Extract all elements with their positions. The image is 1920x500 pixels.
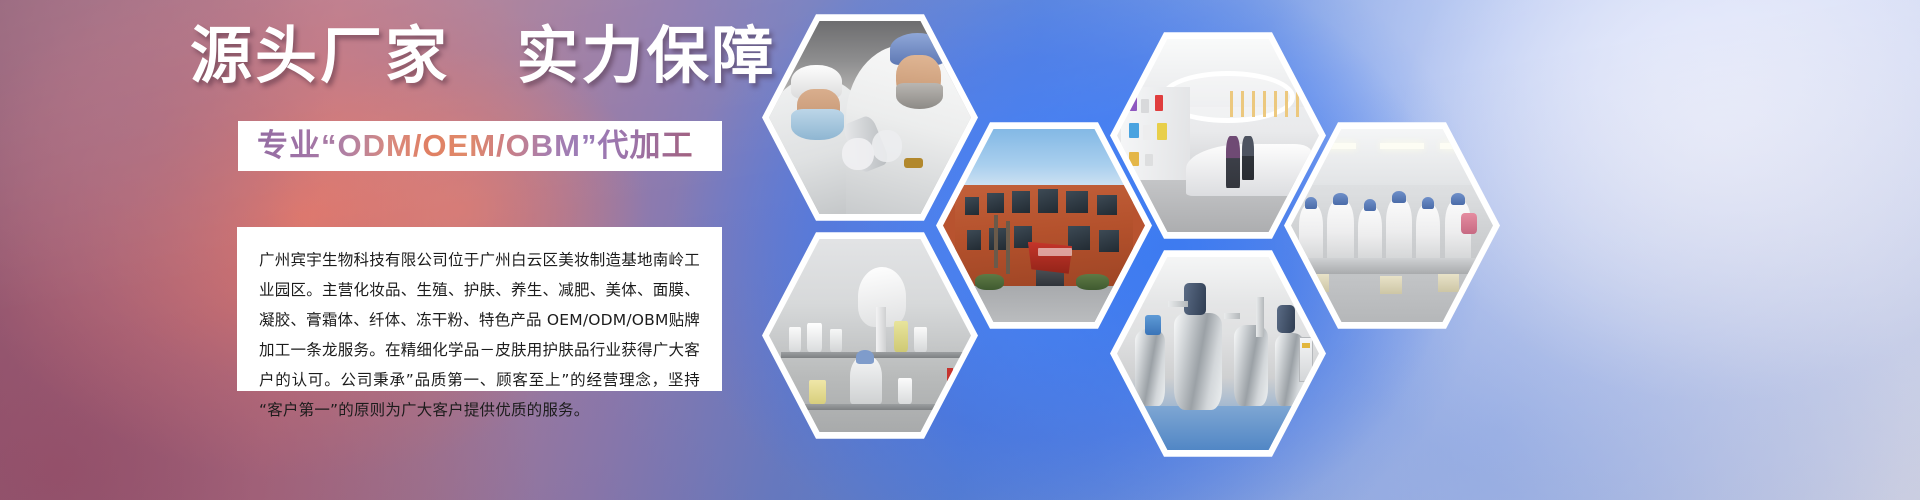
building-window	[965, 197, 979, 215]
display-product	[1155, 95, 1163, 111]
building-window	[987, 193, 1003, 213]
stainless-tank	[1174, 313, 1222, 409]
worker-cap	[1333, 193, 1347, 205]
agitator-motor	[1277, 305, 1295, 333]
mixing-tanks-photo	[1117, 253, 1319, 454]
hex-photo-laboratory-glassware-image	[769, 235, 971, 436]
display-product	[1141, 99, 1149, 113]
building-forecourt	[943, 286, 1145, 326]
shrub-planting	[975, 274, 1003, 290]
production-worker	[1299, 205, 1323, 265]
packaging-carton	[1380, 276, 1402, 294]
street-tree	[994, 215, 998, 267]
production-worker	[1327, 201, 1353, 265]
shrub-planting	[1076, 274, 1108, 290]
packaging-carton	[1438, 274, 1458, 292]
agitator-motor	[1184, 283, 1206, 315]
building-window	[1097, 195, 1117, 215]
showroom-visitor	[1226, 136, 1240, 188]
control-panel-indicator	[1302, 343, 1310, 347]
stainless-tank	[1234, 325, 1268, 405]
display-product	[1127, 95, 1137, 111]
pendant-lights	[1230, 91, 1299, 117]
lab-technicians-photo	[769, 17, 971, 218]
building-entrance-canopy	[1028, 242, 1072, 274]
worker-cap	[1305, 197, 1317, 209]
hex-photo-laboratory-glassware[interactable]	[762, 228, 978, 443]
production-worker	[1386, 199, 1412, 265]
worker-cap	[1422, 197, 1434, 209]
display-product	[1129, 152, 1139, 166]
building-window	[1012, 191, 1030, 213]
reagent-bottle	[809, 380, 825, 404]
factory-building-photo	[943, 125, 1145, 326]
ceiling-light	[1380, 143, 1424, 149]
reagent-bottle	[807, 323, 821, 351]
stainless-tank	[1135, 329, 1165, 405]
building-window	[1038, 189, 1058, 213]
process-pipe	[1256, 297, 1264, 337]
showroom-visitor	[1242, 136, 1254, 180]
lab-worker-cap	[856, 350, 874, 364]
process-pipe	[1168, 301, 1188, 307]
reagent-bottle	[914, 327, 926, 351]
worker-cap	[1364, 199, 1376, 211]
reagent-bottle	[830, 329, 842, 351]
display-product	[1157, 123, 1167, 139]
hex-photo-lab-technicians[interactable]	[762, 10, 978, 225]
building-window	[1068, 226, 1090, 250]
worker-cap	[1451, 193, 1465, 205]
bench-shelf-lower	[781, 404, 963, 410]
worker-cap	[1392, 191, 1406, 203]
building-signage	[1038, 248, 1072, 256]
hex-photo-mixing-tanks[interactable]	[1110, 246, 1326, 461]
production-worker	[1416, 205, 1440, 265]
blue-equipment-module	[1145, 315, 1161, 335]
building-window	[989, 228, 1005, 250]
control-panel	[1299, 337, 1313, 381]
laboratory-glassware-photo	[769, 235, 971, 436]
reagent-bottle	[789, 327, 801, 351]
display-product	[1145, 154, 1153, 166]
hexagon-photo-cluster	[0, 0, 1920, 500]
building-window	[1066, 191, 1088, 213]
glove-left	[842, 138, 874, 170]
promo-banner: 源头厂家 实力保障 专业“ODM/OEM/OBM”代加工 广州宾宇生物科技有限公…	[0, 0, 1920, 500]
hex-photo-production-workers-image	[1291, 125, 1493, 326]
reagent-bottle	[894, 321, 908, 351]
technician-b-beard	[896, 83, 942, 109]
hex-photo-factory-building-image	[943, 125, 1145, 326]
reagent-bottle	[898, 378, 912, 404]
production-workers-photo	[1291, 125, 1493, 326]
hex-photo-showroom-image	[1117, 35, 1319, 236]
glove-right	[872, 130, 902, 162]
hex-photo-lab-technicians-image	[769, 17, 971, 218]
ceiling-light	[1440, 143, 1476, 149]
display-product	[1143, 125, 1151, 139]
assembly-bench	[1299, 258, 1485, 274]
building-window	[967, 230, 981, 250]
surgical-mask-icon	[791, 109, 844, 139]
street-tree	[1006, 221, 1010, 273]
red-label-marker	[947, 368, 953, 386]
showroom-photo	[1117, 35, 1319, 236]
building-window	[1099, 230, 1119, 252]
packaging-carton	[1309, 274, 1329, 292]
workshop-ceiling	[1117, 253, 1319, 305]
production-worker	[1445, 201, 1471, 265]
evaporator-stem	[876, 307, 886, 355]
process-pipe	[1224, 313, 1240, 319]
hex-photo-mixing-tanks-image	[1117, 253, 1319, 454]
workshop-floor	[1117, 406, 1319, 454]
pink-uniform-worker	[1461, 213, 1477, 233]
wristwatch	[904, 158, 922, 168]
display-product	[1129, 123, 1139, 137]
